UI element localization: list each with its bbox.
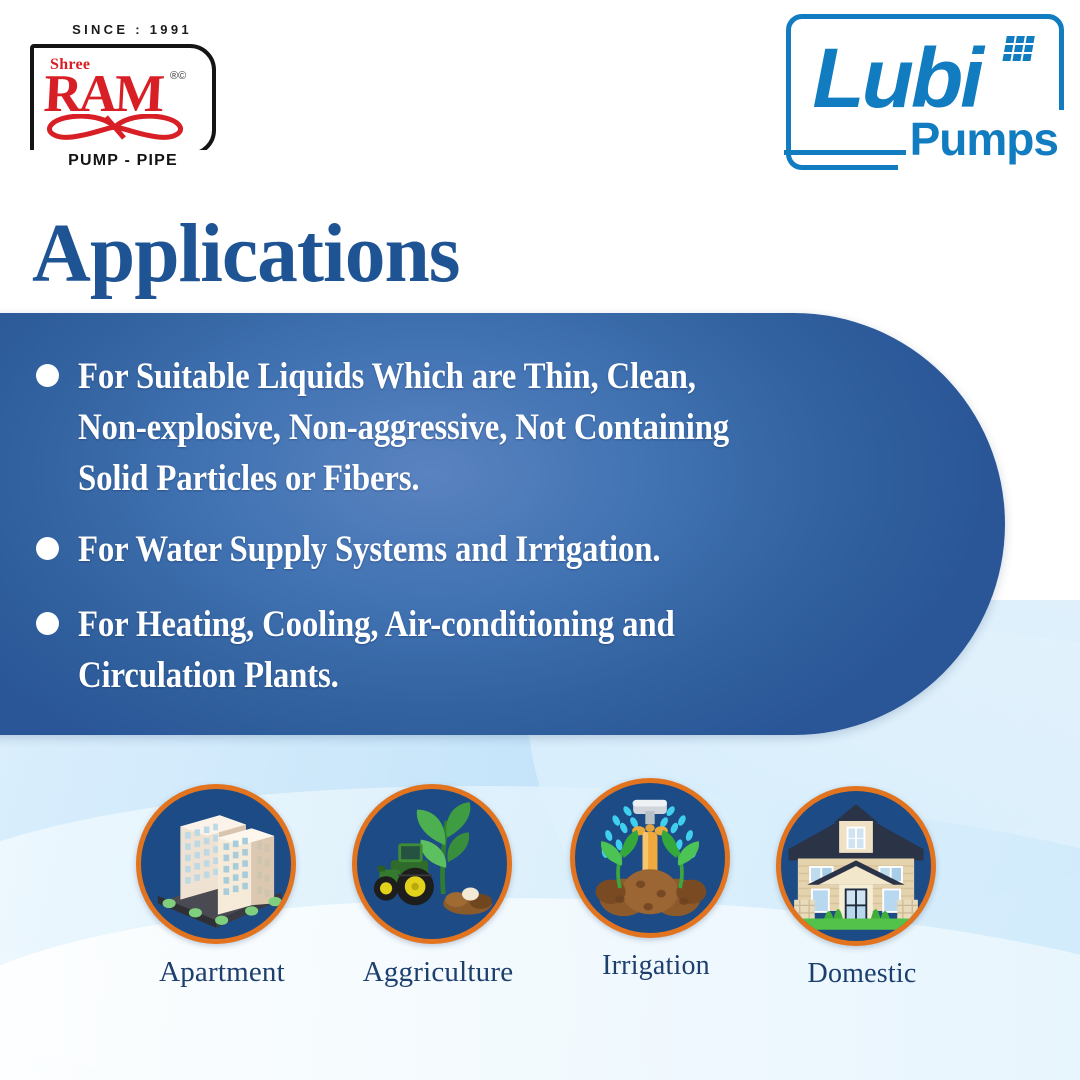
application-item-domestic[interactable]: Domestic — [776, 786, 948, 990]
applications-icon-row: Apartment — [0, 784, 1080, 1064]
lubi-dot-grid-icon — [1001, 36, 1041, 68]
shree-ram-logo: SINCE : 1991 Shree RAM ®© PUMP - PIPE — [18, 22, 223, 162]
lubi-sub-text: Pumps — [910, 116, 1058, 162]
application-label: Apartment — [136, 956, 308, 989]
house-icon — [776, 786, 936, 946]
application-label: Irrigation — [570, 950, 742, 982]
bullet-dot-icon — [36, 537, 59, 560]
lubi-divider-line — [784, 150, 906, 155]
list-item: For Water Supply Systems and Irrigation. — [36, 523, 1046, 574]
logo-tagline-wrap: PUMP - PIPE — [30, 150, 216, 172]
logo-since-text: SINCE : 1991 — [52, 22, 212, 37]
list-item: For Suitable Liquids Which are Thin, Cle… — [36, 350, 1046, 503]
logo-trademark-icon: ®© — [170, 70, 186, 82]
panel-content: For Suitable Liquids Which are Thin, Cle… — [0, 313, 1005, 735]
bullet-text: For Heating, Cooling, Air-conditioning a… — [78, 598, 675, 700]
bullet-text: For Water Supply Systems and Irrigation. — [78, 523, 660, 574]
bullet-text: For Suitable Liquids Which are Thin, Cle… — [78, 350, 729, 503]
bullet-dot-icon — [36, 364, 59, 387]
application-label: Aggriculture — [352, 956, 524, 989]
page-title: Applications — [32, 209, 460, 299]
lubi-pumps-logo: Lubi Pumps — [786, 14, 1064, 170]
application-item-irrigation[interactable]: Irrigation — [570, 778, 742, 982]
applications-panel: For Suitable Liquids Which are Thin, Cle… — [0, 313, 1005, 735]
list-item: For Heating, Cooling, Air-conditioning a… — [36, 598, 1046, 700]
logo-swirl-icon — [42, 114, 188, 140]
apartment-buildings-icon — [136, 784, 296, 944]
application-item-agriculture[interactable]: Aggriculture — [352, 784, 524, 989]
tractor-plant-icon — [352, 784, 512, 944]
poster-canvas: SINCE : 1991 Shree RAM ®© PUMP - PIPE Lu… — [0, 0, 1080, 1080]
application-item-apartment[interactable]: Apartment — [136, 784, 308, 989]
application-label: Domestic — [776, 958, 948, 990]
logo-tagline-text: PUMP - PIPE — [62, 152, 184, 170]
sprinkler-icon — [570, 778, 730, 938]
bullet-dot-icon — [36, 612, 59, 635]
lubi-sub-wrap: Pumps — [786, 118, 1064, 166]
lubi-wordmark: Lubi — [812, 36, 981, 120]
